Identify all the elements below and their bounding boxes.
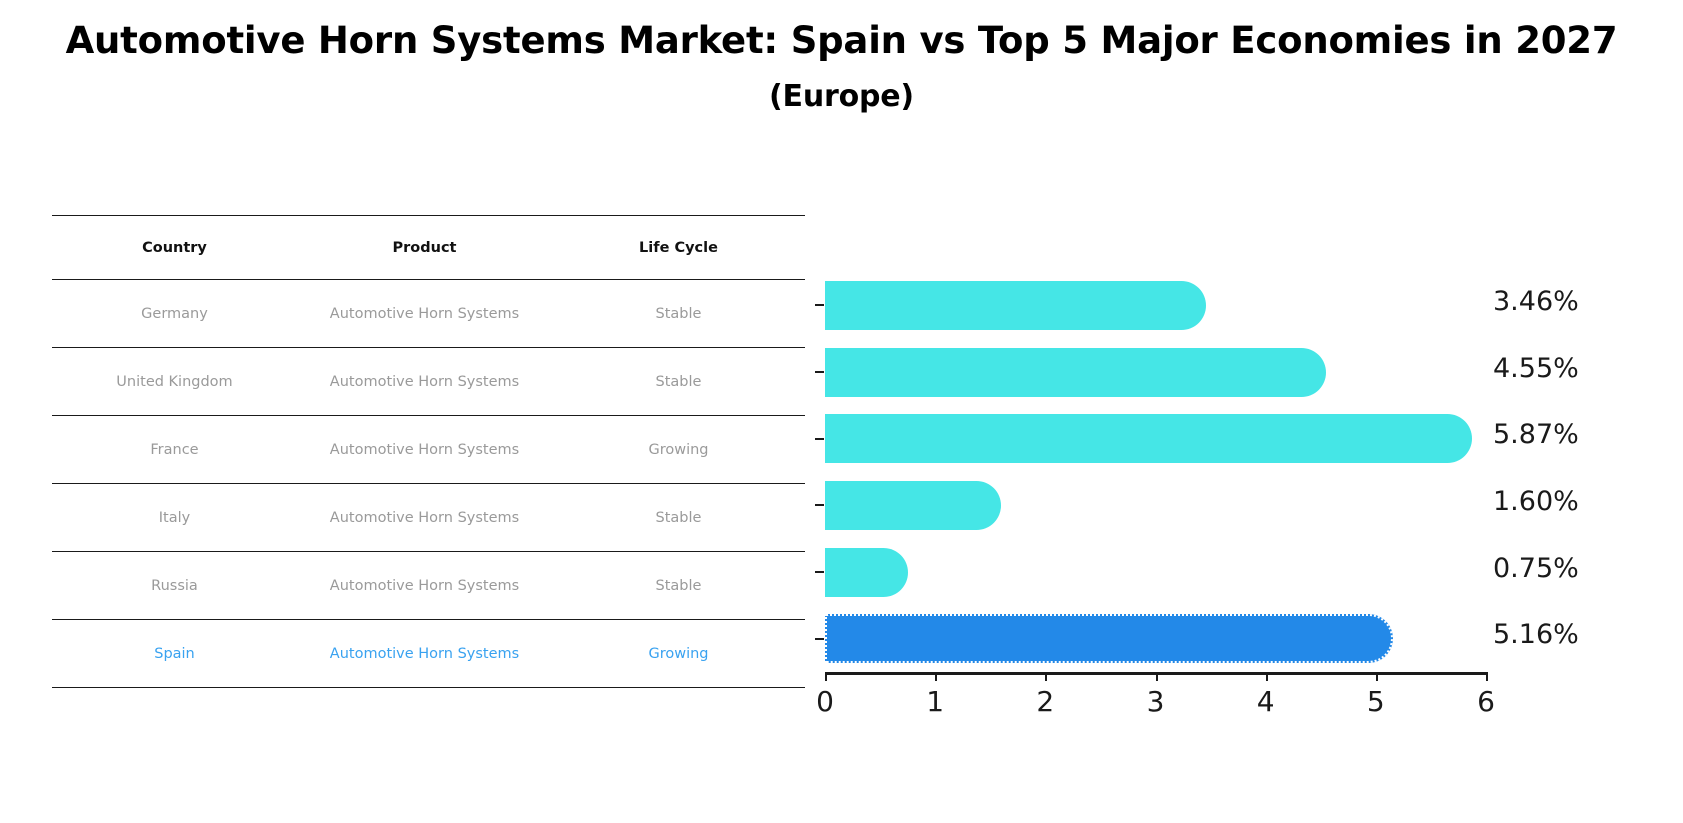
cell-country: France	[52, 416, 297, 484]
x-axis-tick-label: 3	[1147, 685, 1165, 718]
bar-row: 0.75%	[825, 539, 1486, 606]
cell-country: Italy	[52, 484, 297, 552]
table-header: Country Product Life Cycle	[52, 216, 805, 280]
bar[interactable]	[825, 348, 1326, 397]
table-row-highlighted: Spain Automotive Horn Systems Growing	[52, 620, 805, 688]
cell-life-cycle: Stable	[552, 484, 805, 552]
country-table: Country Product Life Cycle Germany Autom…	[52, 215, 805, 688]
table-row: France Automotive Horn Systems Growing	[52, 416, 805, 484]
x-axis-tick	[1156, 672, 1158, 681]
chart-title-line-1: Automotive Horn Systems Market: Spain vs…	[0, 10, 1683, 72]
x-axis-tick	[1266, 672, 1268, 681]
cell-product: Automotive Horn Systems	[297, 280, 552, 348]
bar-highlighted[interactable]	[825, 614, 1393, 663]
x-axis-tick-label: 0	[816, 685, 834, 718]
cell-life-cycle: Stable	[552, 348, 805, 416]
page-title: Automotive Horn Systems Market: Spain vs…	[0, 10, 1683, 122]
x-axis-tick	[1045, 672, 1047, 681]
cell-life-cycle: Stable	[552, 280, 805, 348]
column-header-life-cycle: Life Cycle	[552, 216, 805, 280]
cell-country: Russia	[52, 552, 297, 620]
bar[interactable]	[825, 548, 908, 597]
bar[interactable]	[825, 281, 1206, 330]
cell-product: Automotive Horn Systems	[297, 484, 552, 552]
cell-product: Automotive Horn Systems	[297, 348, 552, 416]
x-axis-tick-label: 5	[1367, 685, 1385, 718]
bar-value-label: 1.60%	[1493, 486, 1579, 517]
y-axis-tick	[815, 571, 824, 573]
bar-row: 1.60%	[825, 472, 1486, 539]
x-axis-tick	[935, 672, 937, 681]
bar-value-label: 5.16%	[1493, 619, 1579, 650]
x-axis-tick-label: 1	[926, 685, 944, 718]
table-row: Italy Automotive Horn Systems Stable	[52, 484, 805, 552]
column-header-product: Product	[297, 216, 552, 280]
bar-value-label: 0.75%	[1493, 553, 1579, 584]
y-axis-tick	[815, 371, 824, 373]
bar-value-label: 3.46%	[1493, 286, 1579, 317]
x-axis-tick	[1376, 672, 1378, 681]
cell-country: Germany	[52, 280, 297, 348]
bar[interactable]	[825, 481, 1001, 530]
plot-area: 3.46%4.55%5.87%1.60%0.75%5.16%	[825, 272, 1486, 672]
chart-title-line-2: (Europe)	[0, 72, 1683, 122]
y-axis-tick	[815, 638, 824, 640]
y-axis-tick	[815, 504, 824, 506]
bar-row: 5.87%	[825, 405, 1486, 472]
cell-product: Automotive Horn Systems	[297, 620, 552, 688]
x-axis-tick-label: 6	[1477, 685, 1495, 718]
cell-product: Automotive Horn Systems	[297, 416, 552, 484]
y-axis-tick	[815, 304, 824, 306]
table-body: Germany Automotive Horn Systems Stable U…	[52, 280, 805, 688]
bar-value-label: 4.55%	[1493, 353, 1579, 384]
cell-life-cycle: Growing	[552, 416, 805, 484]
cell-country: Spain	[52, 620, 297, 688]
x-axis-tick	[1486, 672, 1488, 681]
bar-value-label: 5.87%	[1493, 419, 1579, 450]
x-axis-tick	[825, 672, 827, 681]
country-table-container: Country Product Life Cycle Germany Autom…	[52, 215, 805, 688]
table-row: United Kingdom Automotive Horn Systems S…	[52, 348, 805, 416]
cell-life-cycle: Growing	[552, 620, 805, 688]
x-axis: 0123456	[825, 672, 1486, 675]
cell-life-cycle: Stable	[552, 552, 805, 620]
bar-row: 3.46%	[825, 272, 1486, 339]
bar-row: 4.55%	[825, 339, 1486, 406]
bar[interactable]	[825, 414, 1472, 463]
table-row: Russia Automotive Horn Systems Stable	[52, 552, 805, 620]
table-header-row: Country Product Life Cycle	[52, 216, 805, 280]
y-axis-tick	[815, 438, 824, 440]
x-axis-tick-label: 4	[1257, 685, 1275, 718]
bar-row: 5.16%	[825, 605, 1486, 672]
column-header-country: Country	[52, 216, 297, 280]
cell-country: United Kingdom	[52, 348, 297, 416]
x-axis-tick-label: 2	[1036, 685, 1054, 718]
table-row: Germany Automotive Horn Systems Stable	[52, 280, 805, 348]
cell-product: Automotive Horn Systems	[297, 552, 552, 620]
